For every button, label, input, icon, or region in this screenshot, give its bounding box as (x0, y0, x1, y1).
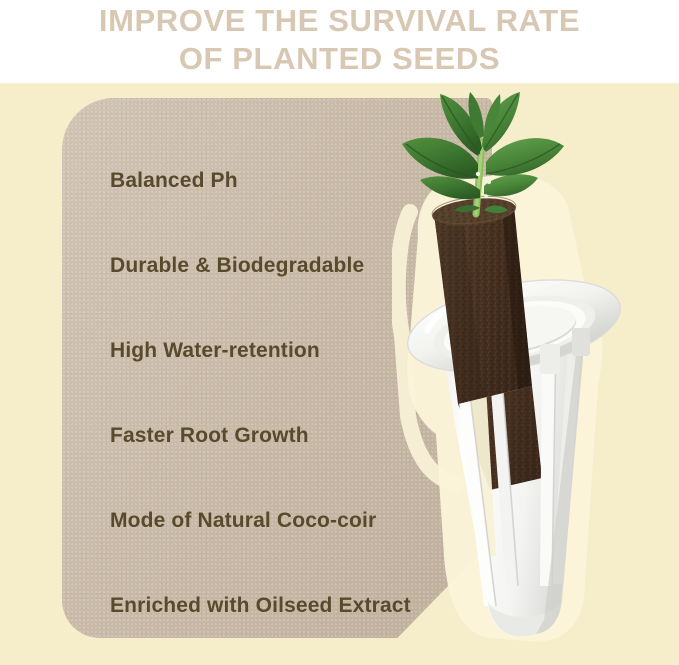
feature-label-high-water-retention: High Water-retention (110, 338, 320, 364)
page-title: IMPROVE THE SURVIVAL RATE OF PLANTED SEE… (0, 2, 679, 78)
product-image (392, 86, 679, 646)
feature-label-durable-biodegradable: Durable & Biodegradable (110, 253, 364, 279)
infographic-root: IMPROVE THE SURVIVAL RATE OF PLANTED SEE… (0, 0, 679, 665)
feature-label-oilseed-extract: Enriched with Oilseed Extract (110, 593, 411, 619)
seedling-in-net-pot-illustration (392, 86, 679, 646)
feature-label-balanced-ph: Balanced Ph (110, 168, 238, 194)
feature-label-faster-root-growth: Faster Root Growth (110, 423, 309, 449)
feature-label-natural-coco-coir: Mode of Natural Coco-coir (110, 508, 376, 534)
header-band: IMPROVE THE SURVIVAL RATE OF PLANTED SEE… (0, 0, 679, 83)
